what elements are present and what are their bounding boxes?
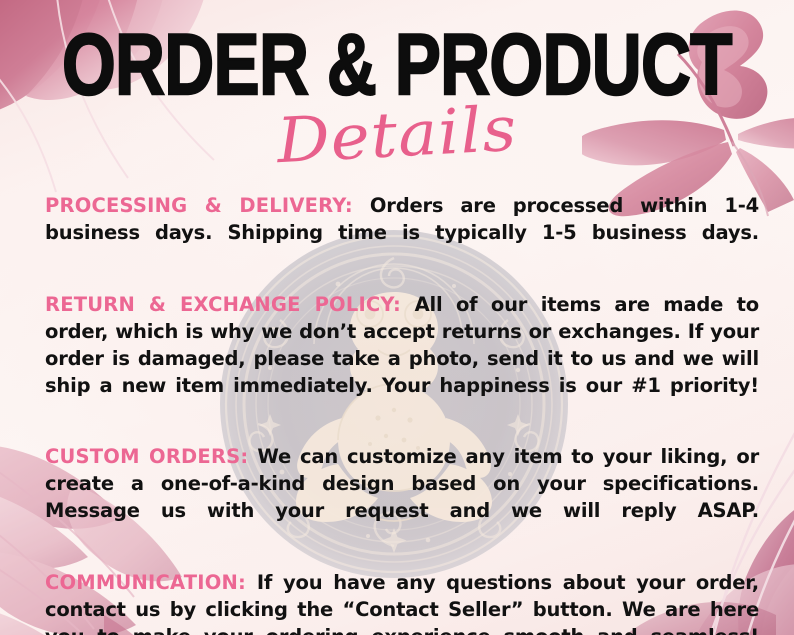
section-paragraph: RETURN & EXCHANGE POLICY: All of our ite… (45, 291, 759, 426)
order-product-details-card: ORDER & PRODUCT Details PROCESSING & DEL… (0, 0, 794, 635)
sections-list: PROCESSING & DELIVERY: Orders are proces… (45, 192, 759, 635)
section-communication: COMMUNICATION: If you have any questions… (45, 569, 759, 635)
section-processing-delivery: PROCESSING & DELIVERY: Orders are proces… (45, 192, 759, 273)
section-paragraph: PROCESSING & DELIVERY: Orders are proces… (45, 192, 759, 273)
section-paragraph: COMMUNICATION: If you have any questions… (45, 569, 759, 635)
section-heading: COMMUNICATION: (45, 571, 246, 594)
section-heading: CUSTOM ORDERS: (45, 445, 248, 468)
card-content: ORDER & PRODUCT Details PROCESSING & DEL… (0, 0, 794, 635)
section-heading: RETURN & EXCHANGE POLICY: (45, 293, 401, 316)
section-heading: PROCESSING & DELIVERY: (45, 194, 353, 217)
section-paragraph: CUSTOM ORDERS: We can customize any item… (45, 443, 759, 551)
section-custom-orders: CUSTOM ORDERS: We can customize any item… (45, 443, 759, 551)
section-return-exchange-policy: RETURN & EXCHANGE POLICY: All of our ite… (45, 291, 759, 426)
